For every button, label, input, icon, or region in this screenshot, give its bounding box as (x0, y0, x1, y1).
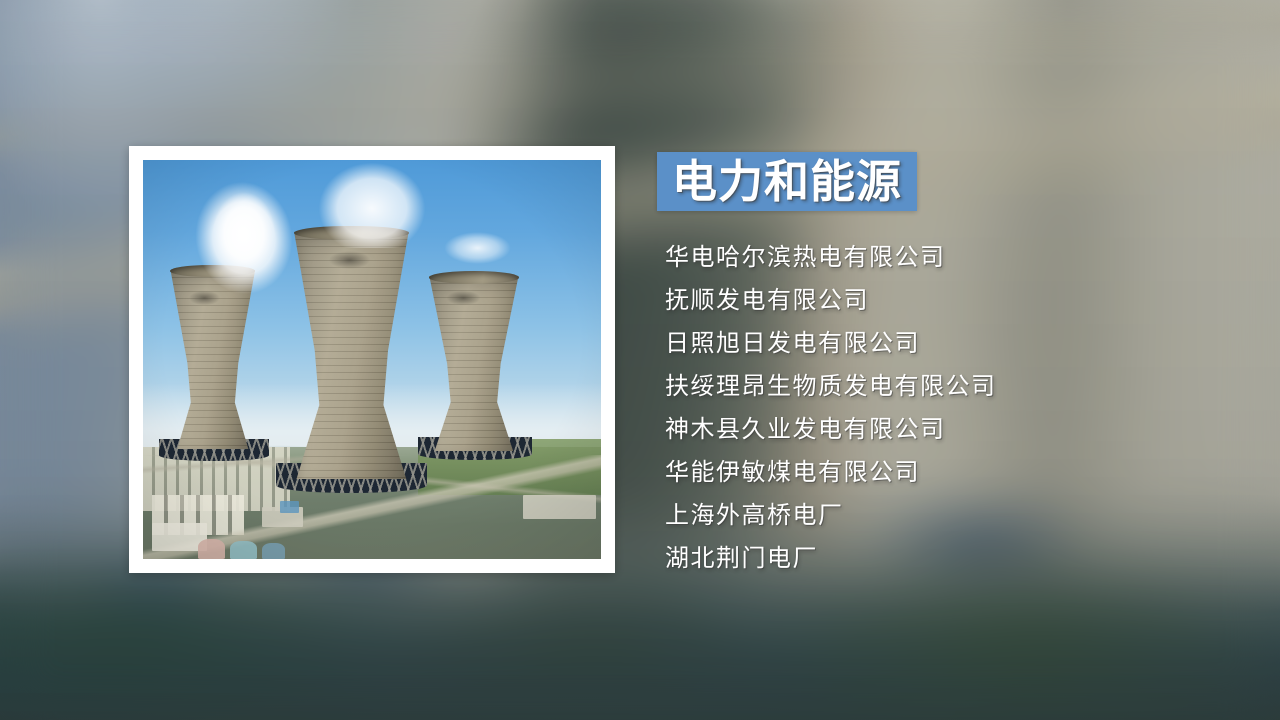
company-list: 华电哈尔滨热电有限公司 抚顺发电有限公司 日照旭日发电有限公司 扶绥理昂生物质发… (665, 236, 1225, 580)
list-item: 上海外高桥电厂 (665, 494, 1225, 537)
list-item: 日照旭日发电有限公司 (665, 322, 1225, 365)
list-item: 华能伊敏煤电有限公司 (665, 451, 1225, 494)
slide-root: 电力和能源 华电哈尔滨热电有限公司 抚顺发电有限公司 日照旭日发电有限公司 扶绥… (0, 0, 1280, 720)
list-item: 湖北荆门电厂 (665, 537, 1225, 580)
list-item: 华电哈尔滨热电有限公司 (665, 236, 1225, 279)
list-item: 扶绥理昂生物质发电有限公司 (665, 365, 1225, 408)
power-plant-photo (143, 160, 601, 559)
page-title: 电力和能源 (672, 159, 902, 204)
title-banner: 电力和能源 (657, 152, 917, 211)
list-item: 抚顺发电有限公司 (665, 279, 1225, 322)
photo-vignette (143, 160, 601, 559)
photo-frame (129, 146, 615, 573)
list-item: 神木县久业发电有限公司 (665, 408, 1225, 451)
